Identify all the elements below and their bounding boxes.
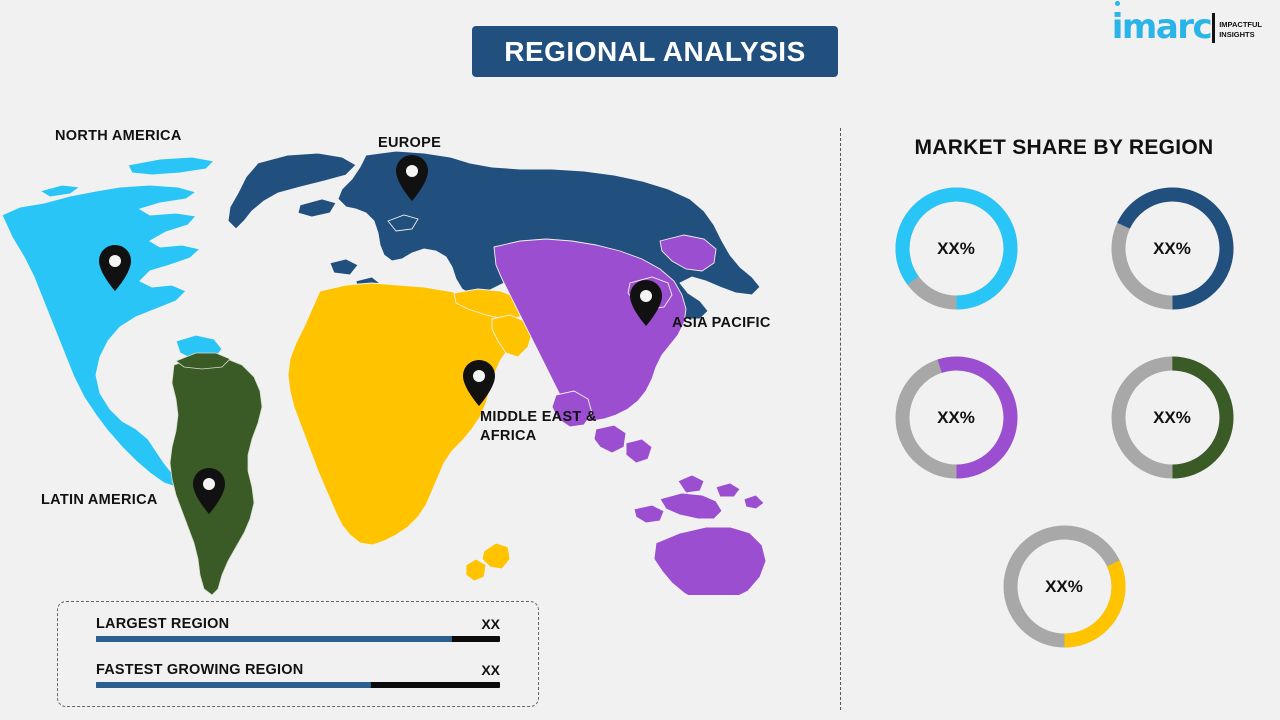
legend-progress-fill (96, 636, 452, 642)
legend-row-fastest-growing-region: FASTEST GROWING REGION XX (96, 662, 500, 708)
logo-word-text: imarc (1112, 7, 1211, 47)
donut-cell-4: XX% (1064, 351, 1280, 484)
donut-chart-1[interactable]: XX% (890, 182, 1023, 315)
legend-progress-fill (96, 682, 371, 688)
donut-chart-4[interactable]: XX% (1106, 351, 1239, 484)
imarc-logo: imarc IMPACTFUL INSIGHTS (1112, 10, 1262, 44)
legend-label: LARGEST REGION (96, 616, 229, 632)
logo-dot-icon (1115, 1, 1120, 6)
donut-cell-5: XX% (956, 520, 1172, 653)
region-label-latin-america: LATIN AMERICA (41, 491, 158, 510)
legend-value: XX (481, 616, 500, 632)
panel-divider (840, 128, 841, 710)
donut-cell-2: XX% (1064, 182, 1280, 315)
legend-row-largest-region: LARGEST REGION XX (96, 616, 500, 662)
donut-center-label: XX% (890, 182, 1023, 315)
legend-label: FASTEST GROWING REGION (96, 662, 303, 678)
donut-center-label: XX% (890, 351, 1023, 484)
page-title: REGIONAL ANALYSIS (504, 36, 806, 68)
donut-center-label: XX% (998, 520, 1131, 653)
legend-progress-track (96, 682, 500, 688)
logo-divider-bar (1212, 13, 1215, 43)
region-summary-box: LARGEST REGION XX FASTEST GROWING REGION… (57, 601, 539, 707)
logo-wordmark: imarc (1112, 10, 1211, 44)
donut-chart-2[interactable]: XX% (1106, 182, 1239, 315)
logo-tagline-line1: IMPACTFUL (1219, 20, 1262, 30)
market-share-panel: MARKET SHARE BY REGION XX%XX%XX%XX%XX% (848, 120, 1280, 660)
donut-cell-3: XX% (848, 351, 1064, 484)
legend-progress-track (96, 636, 500, 642)
region-label-north-america: NORTH AMERICA (55, 127, 182, 146)
market-share-title: MARKET SHARE BY REGION (848, 136, 1280, 160)
donut-chart-grid: XX%XX%XX%XX%XX% (848, 182, 1280, 689)
logo-tagline: IMPACTFUL INSIGHTS (1219, 20, 1262, 40)
donut-center-label: XX% (1106, 182, 1239, 315)
donut-cell-1: XX% (848, 182, 1064, 315)
region-label-middle-east-africa: MIDDLE EAST & AFRICA (480, 408, 625, 446)
world-map-panel (0, 95, 830, 595)
donut-chart-3[interactable]: XX% (890, 351, 1023, 484)
region-label-asia-pacific: ASIA PACIFIC (672, 314, 771, 333)
world-map-graphic (0, 95, 830, 595)
donut-chart-5[interactable]: XX% (998, 520, 1131, 653)
region-label-europe: EUROPE (378, 134, 441, 153)
logo-tagline-line2: INSIGHTS (1219, 30, 1262, 40)
legend-value: XX (481, 662, 500, 678)
donut-center-label: XX% (1106, 351, 1239, 484)
page-title-banner: REGIONAL ANALYSIS (472, 26, 838, 77)
